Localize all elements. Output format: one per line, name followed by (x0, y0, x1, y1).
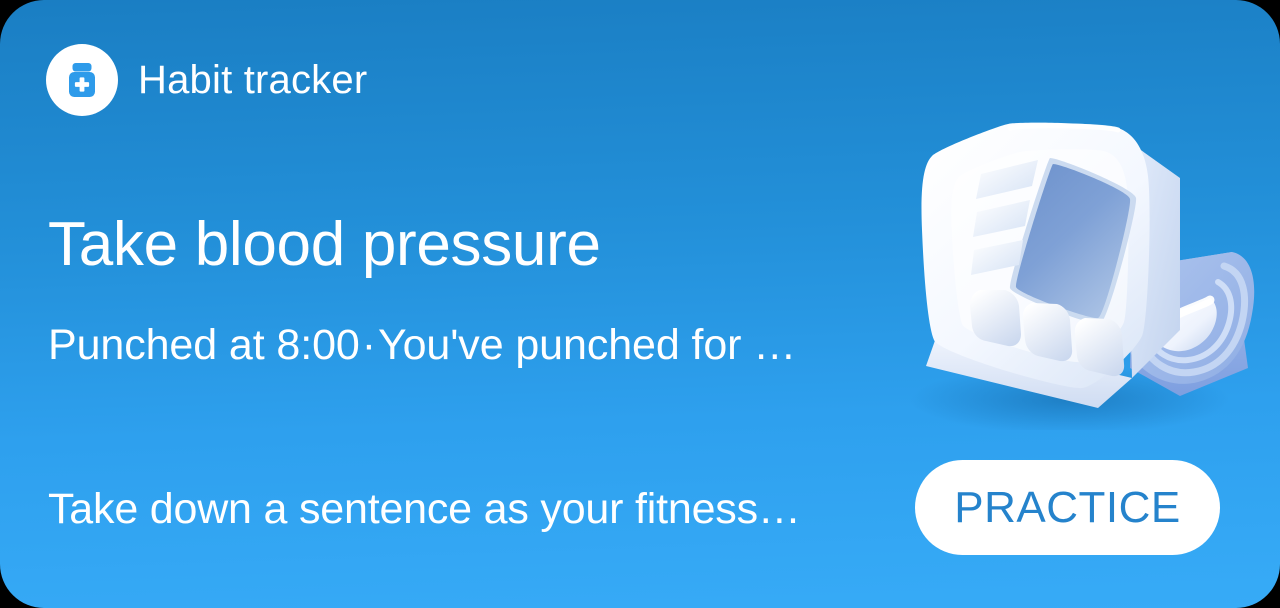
habit-tracker-card: Habit tracker Take blood pressure Punche… (0, 0, 1280, 608)
habit-description-text: Take down a sentence as your fitness… (48, 486, 801, 533)
indicator-bars (971, 160, 1038, 275)
monitor-body (921, 123, 1180, 408)
card-header: Habit tracker (46, 44, 367, 116)
punch-streak-label: You've punched for … (378, 321, 796, 369)
practice-button[interactable]: PRACTICE (915, 460, 1220, 555)
monitor-screen (1010, 158, 1136, 324)
monitor-buttons (970, 290, 1124, 376)
punch-time-label: Punched at 8:00 (48, 321, 360, 369)
separator-dot: · (360, 321, 378, 369)
punch-status-text: Punched at 8:00·You've punched for … (48, 322, 796, 369)
page-title: Take blood pressure (48, 212, 601, 279)
blood-pressure-monitor-illustration (880, 100, 1260, 430)
app-title: Habit tracker (138, 60, 367, 100)
cuff-roll (1130, 252, 1254, 396)
medicine-bottle-icon (46, 44, 118, 116)
